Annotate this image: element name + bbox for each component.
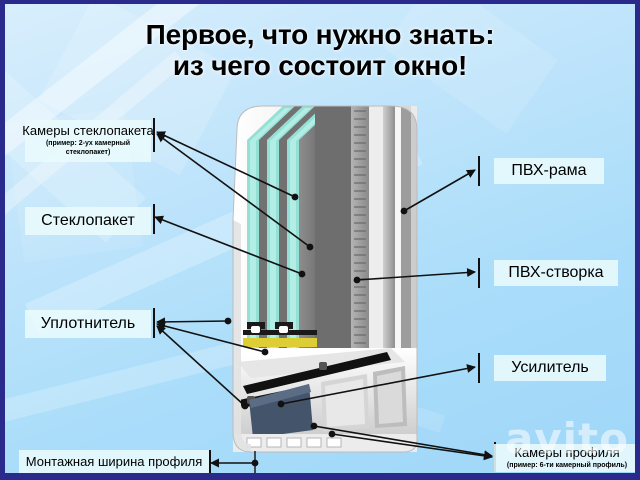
label-mounting-width-title: Монтажная ширина профиля (26, 455, 202, 470)
tick-glass-unit (153, 204, 155, 234)
poster-title: Первое, что нужно знать: из чего состоит… (5, 4, 635, 96)
label-glass-chambers-sub1: (пример: 2-ух камерный (46, 140, 130, 148)
label-pvc-sash-title: ПВХ-створка (508, 264, 603, 282)
label-reinforcement[interactable]: Усилитель (494, 355, 606, 381)
tick-pvc-frame (478, 156, 480, 186)
poster-root: Первое, что нужно знать: из чего состоит… (0, 0, 640, 480)
label-mounting-width[interactable]: Монтажная ширина профиля (19, 450, 209, 474)
label-seal-title: Уплотнитель (41, 315, 135, 333)
label-pvc-frame-title: ПВХ-рама (511, 162, 586, 180)
label-glass-unit-title: Стеклопакет (41, 212, 135, 230)
title-line-2: из чего состоит окно! (173, 50, 467, 81)
label-profile-chambers-title: Камеры профиля (514, 446, 619, 461)
label-reinforcement-title: Усилитель (511, 359, 589, 377)
label-glass-chambers-title: Камеры стеклопакета (22, 124, 153, 139)
label-profile-chambers[interactable]: Камеры профиля (пример: 6-ти камерный пр… (494, 444, 640, 472)
label-glass-unit[interactable]: Стеклопакет (25, 207, 151, 235)
window-cross-section-illustration (191, 100, 441, 478)
title-line-1: Первое, что нужно знать: (146, 19, 495, 50)
label-pvc-sash[interactable]: ПВХ-створка (494, 260, 618, 286)
label-seal[interactable]: Уплотнитель (25, 310, 151, 338)
tick-seal (153, 308, 155, 338)
tick-reinforcement (478, 353, 480, 383)
tick-pvc-sash (478, 258, 480, 288)
label-pvc-frame[interactable]: ПВХ-рама (494, 158, 604, 184)
label-glass-chambers-sub2: стеклопакет) (66, 149, 111, 157)
label-glass-chambers[interactable]: Камеры стеклопакета (пример: 2-ух камерн… (25, 120, 151, 162)
label-profile-chambers-sub1: (пример: 6-ти камерный профиль) (507, 462, 627, 470)
tick-mounting-width (209, 450, 211, 476)
